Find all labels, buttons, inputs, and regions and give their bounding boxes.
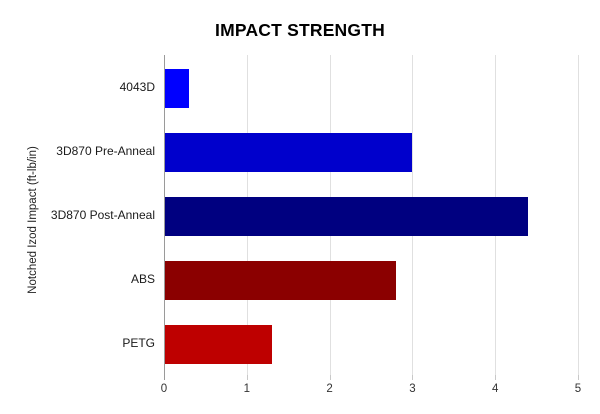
bar — [164, 197, 528, 236]
x-axis-tick-label: 4 — [475, 383, 515, 395]
bar — [164, 325, 272, 364]
tick-mark-x-1 — [247, 375, 248, 380]
bar — [164, 261, 396, 300]
tick-mark-x-3 — [412, 375, 413, 380]
tick-mark-x-0 — [164, 375, 165, 380]
y-axis-category-label: 3D870 Pre-Anneal — [5, 119, 155, 183]
tick-mark-x-5 — [578, 375, 579, 380]
y-axis-category-label: PETG — [5, 311, 155, 375]
y-axis-category-label: 3D870 Post-Anneal — [5, 183, 155, 247]
gridline-x-0 — [164, 55, 165, 375]
tick-mark-x-2 — [330, 375, 331, 380]
x-axis-tick-label: 2 — [310, 383, 350, 395]
bar — [164, 69, 189, 108]
y-axis-category-labels: 4043D3D870 Pre-Anneal3D870 Post-AnnealAB… — [0, 55, 164, 375]
chart-title: IMPACT STRENGTH — [0, 20, 600, 41]
y-axis-category-label: 4043D — [5, 55, 155, 119]
x-axis-tick-label: 5 — [558, 383, 598, 395]
bar — [164, 133, 412, 172]
gridline-x-5 — [578, 55, 579, 375]
x-axis-tick-label: 0 — [144, 383, 184, 395]
x-axis-tick-label: 1 — [227, 383, 267, 395]
y-axis-category-label: ABS — [5, 247, 155, 311]
x-axis-tick-label: 3 — [392, 383, 432, 395]
tick-mark-x-4 — [495, 375, 496, 380]
impact-strength-bar-chart: IMPACT STRENGTH Notched Izod Impact (ft-… — [0, 0, 600, 414]
